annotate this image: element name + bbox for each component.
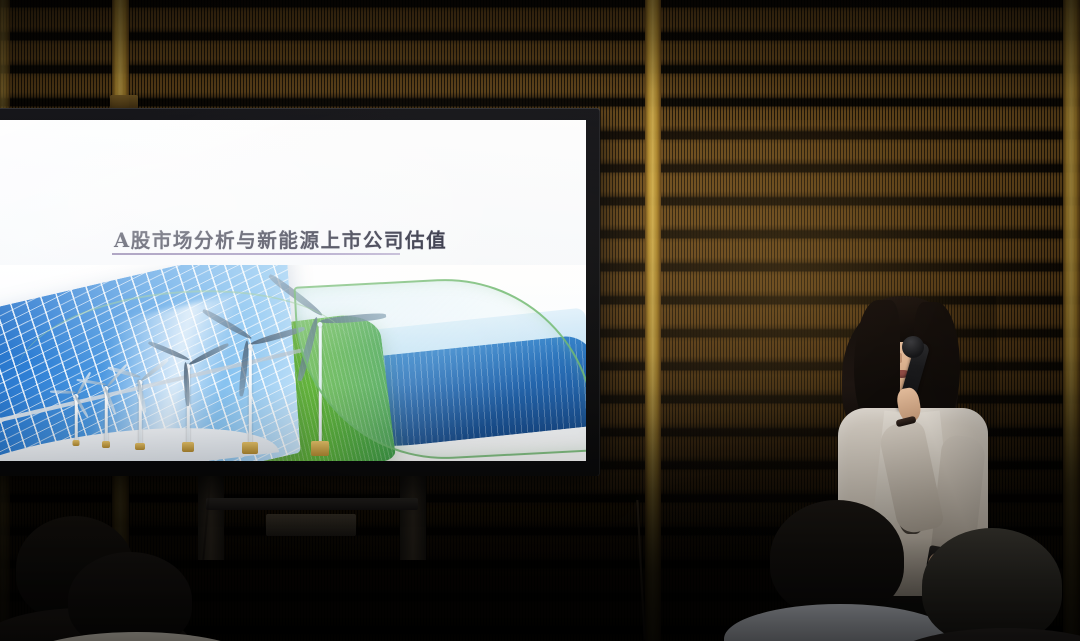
flat-panel-display[interactable]: A股市场分析与新能源上市公司估值 2024年5月27日 [0, 108, 600, 476]
slide-title-underline [112, 253, 400, 255]
audience-shoulders [12, 632, 262, 641]
display-stand [180, 470, 440, 560]
audience-head [922, 528, 1062, 641]
stand-crossbar [206, 498, 418, 510]
audience-head [770, 500, 904, 616]
slide-title: A股市场分析与新能源上市公司估值 [114, 224, 447, 253]
audience-member [752, 500, 932, 641]
stand-post-right [400, 470, 426, 560]
audience-member [28, 552, 238, 641]
stand-equipment-box [266, 514, 356, 536]
stand-post-left [198, 470, 224, 560]
presentation-photo-scene: A股市场分析与新能源上市公司估值 2024年5月27日 [0, 0, 1080, 641]
audience-head [68, 552, 192, 641]
turbine-foundation [311, 441, 329, 456]
audience-member [912, 528, 1080, 641]
slide-artwork [0, 265, 586, 461]
display-screen: A股市场分析与新能源上市公司估值 2024年5月27日 [0, 120, 586, 461]
audience-shoulders [886, 628, 1080, 641]
turbine-foundation [182, 442, 194, 452]
